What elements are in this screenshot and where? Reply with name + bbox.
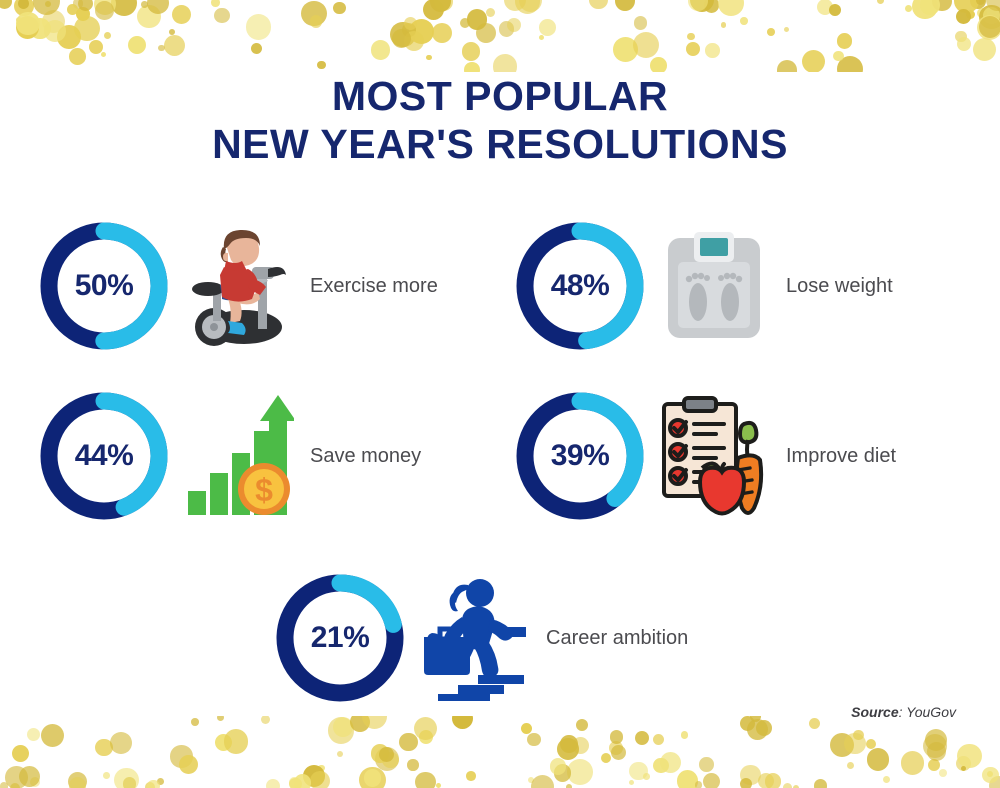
confetti-dot <box>432 23 452 43</box>
confetti-dot <box>5 766 28 788</box>
confetti-dot <box>10 783 20 788</box>
confetti-dot <box>550 758 567 775</box>
confetti-dot <box>767 28 775 36</box>
confetti-dot <box>866 739 877 750</box>
confetti-dot <box>653 758 669 774</box>
confetti-dot <box>157 778 164 785</box>
confetti-dot <box>251 43 262 54</box>
confetti-dot <box>923 734 948 759</box>
confetti-dot <box>41 724 64 747</box>
confetti-dot <box>170 745 192 767</box>
confetti-dot <box>629 762 648 781</box>
confetti-dot <box>404 31 425 52</box>
source-attribution: Source: YouGov <box>851 704 956 720</box>
confetti-dot <box>966 10 975 19</box>
confetti-dot <box>721 22 726 27</box>
confetti-dot <box>677 770 699 788</box>
confetti-dot <box>0 782 8 788</box>
confetti-dot <box>318 765 325 772</box>
confetti-dot <box>392 29 411 48</box>
source-prefix: Source <box>851 704 898 720</box>
confetti-dot <box>976 0 985 5</box>
confetti-dot <box>371 744 389 762</box>
confetti-dot <box>690 0 715 12</box>
confetti-dot <box>464 62 480 72</box>
confetti-dot <box>364 769 382 787</box>
confetti-dot <box>699 757 713 771</box>
confetti-dot <box>817 0 833 15</box>
growth-chart-coin-icon: $ <box>178 391 298 521</box>
confetti-dot <box>224 729 249 754</box>
confetti-dot <box>45 1 51 7</box>
donut-chart-exercise-more: 50% <box>36 218 172 354</box>
confetti-dot <box>434 0 452 11</box>
title-line-1: MOST POPULAR <box>0 72 1000 120</box>
confetti-dot <box>833 51 843 61</box>
gold-confetti-dots-top <box>0 0 1000 72</box>
confetti-dot <box>973 38 996 61</box>
svg-text:$: $ <box>255 472 273 508</box>
confetti-dot <box>688 0 708 11</box>
confetti-dot <box>169 29 175 35</box>
confetti-dot <box>687 33 695 41</box>
stat-item-improve-diet: 39% <box>512 388 896 524</box>
confetti-dot <box>704 0 720 13</box>
confetti-dot <box>957 744 982 769</box>
confetti-dot <box>560 735 578 753</box>
confetti-dot <box>718 0 744 16</box>
confetti-dot <box>33 0 60 15</box>
page-title: MOST POPULAR NEW YEAR'S RESOLUTIONS <box>0 72 1000 169</box>
stat-item-exercise-more: 50% Exercise more <box>36 218 438 354</box>
confetti-dot <box>609 741 623 755</box>
confetti-dot <box>912 0 937 19</box>
confetti-dot <box>414 717 437 740</box>
title-line-2: NEW YEAR'S RESOLUTIONS <box>0 120 1000 168</box>
confetti-dot <box>956 9 971 24</box>
confetti-dot <box>954 0 979 13</box>
donut-value-career-ambition: 21% <box>272 570 408 706</box>
confetti-dot <box>830 733 854 757</box>
stat-item-career-ambition: 21% Career ambition <box>272 570 688 706</box>
confetti-dot <box>404 17 417 30</box>
confetti-dot <box>337 751 343 757</box>
confetti-dot <box>57 25 81 49</box>
confetti-dot <box>19 766 40 787</box>
confetti-dot <box>14 0 34 16</box>
confetti-dot <box>982 767 998 783</box>
confetti-dot <box>809 718 820 729</box>
confetti-dot <box>415 772 435 788</box>
confetti-dot <box>94 0 116 15</box>
confetti-dot <box>554 764 572 782</box>
confetti-dot <box>758 773 774 788</box>
confetti-dot <box>27 728 40 741</box>
confetti-dot <box>310 15 322 27</box>
confetti-dot <box>423 0 444 20</box>
confetti-dot <box>179 755 198 774</box>
stat-label-lose-weight: Lose weight <box>786 275 893 298</box>
confetti-dot <box>539 19 556 36</box>
confetti-dot <box>407 759 419 771</box>
confetti-dot <box>310 771 330 788</box>
confetti-dot <box>101 52 106 57</box>
confetti-dot <box>69 48 86 65</box>
confetti-dot <box>747 719 768 740</box>
donut-chart-improve-diet: 39% <box>512 388 648 524</box>
confetti-dot <box>289 777 300 788</box>
stat-label-career-ambition: Career ambition <box>546 627 688 650</box>
confetti-dot <box>499 21 514 36</box>
confetti-dot <box>987 771 993 777</box>
stat-item-save-money: 44% $ Save money <box>36 388 421 524</box>
confetti-dot <box>172 5 191 24</box>
businesswoman-stairs-icon <box>414 573 534 703</box>
confetti-dot <box>137 5 161 29</box>
confetti-dot <box>932 0 952 11</box>
confetti-dot <box>601 753 611 763</box>
confetti-dot <box>103 772 110 779</box>
confetti-dot <box>145 782 155 788</box>
confetti-dot <box>214 8 229 23</box>
bathroom-scale-icon <box>654 221 774 351</box>
donut-value-exercise-more: 50% <box>36 218 172 354</box>
donut-chart-career-ambition: 21% <box>272 570 408 706</box>
confetti-dot <box>73 0 83 9</box>
confetti-dot <box>30 777 40 787</box>
confetti-dot <box>905 5 912 12</box>
confetti-dot <box>16 16 39 39</box>
donut-chart-save-money: 44% <box>36 388 172 524</box>
confetti-dot <box>399 733 418 752</box>
confetti-dot <box>147 0 169 14</box>
confetti-dot <box>986 0 1000 11</box>
confetti-dot <box>783 783 792 788</box>
donut-chart-lose-weight: 48% <box>512 218 648 354</box>
confetti-dot <box>128 36 146 54</box>
confetti-dot <box>567 759 593 785</box>
confetti-dot <box>750 716 761 722</box>
confetti-dot <box>289 778 302 788</box>
confetti-dot <box>402 23 416 37</box>
confetti-dot <box>375 747 399 771</box>
confetti-dot <box>507 18 522 33</box>
confetti-dot <box>681 731 688 738</box>
confetti-dot <box>95 739 112 756</box>
confetti-dot <box>78 0 93 11</box>
confetti-dot <box>519 0 542 12</box>
confetti-dot <box>686 42 700 56</box>
diet-clipboard-icon <box>654 391 774 521</box>
donut-value-save-money: 44% <box>36 388 172 524</box>
confetti-dot <box>802 50 825 72</box>
confetti-dot <box>515 0 541 14</box>
confetti-dot <box>466 771 476 781</box>
confetti-dot <box>695 781 702 788</box>
confetti-dot <box>379 747 394 762</box>
confetti-dot <box>634 16 648 30</box>
confetti-dot <box>111 0 137 16</box>
confetti-dot <box>925 729 947 751</box>
confetti-dot <box>615 0 635 11</box>
confetti-dot <box>16 17 22 23</box>
confetti-dot <box>653 734 664 745</box>
confetti-dot <box>765 773 782 788</box>
confetti-dot <box>844 733 865 754</box>
confetti-dot <box>635 731 649 745</box>
confetti-dot <box>504 0 526 11</box>
confetti-dot <box>164 35 185 56</box>
confetti-dot <box>979 5 1000 29</box>
confetti-dot <box>877 0 885 4</box>
confetti-dot <box>390 22 416 48</box>
confetti-dot <box>531 775 554 788</box>
confetti-dot <box>76 7 90 21</box>
confetti-dot <box>784 27 790 33</box>
confetti-dot <box>301 1 327 27</box>
confetti-dot <box>610 730 623 743</box>
confetti-dot <box>589 0 607 9</box>
source-name: YouGov <box>906 704 956 720</box>
confetti-dot <box>901 751 925 775</box>
confetti-dot <box>572 737 589 754</box>
confetti-dot <box>123 777 137 788</box>
donut-value-improve-diet: 39% <box>512 388 648 524</box>
confetti-dot <box>961 766 966 771</box>
confetti-dot <box>460 18 470 28</box>
confetti-dot <box>829 4 841 16</box>
confetti-dot <box>12 745 29 762</box>
confetti-dot <box>294 774 311 788</box>
gold-confetti-dots-bottom <box>0 716 1000 788</box>
confetti-dot <box>957 37 971 51</box>
confetti-dot <box>740 17 748 25</box>
confetti-dot <box>476 23 496 43</box>
confetti-dot <box>977 8 987 18</box>
confetti-dot <box>837 56 863 72</box>
confetti-dot <box>462 42 481 61</box>
confetti-dot <box>521 723 532 734</box>
confetti-dot <box>419 730 433 744</box>
donut-value-lose-weight: 48% <box>512 218 648 354</box>
exercise-bike-icon <box>178 221 298 351</box>
confetti-dot <box>527 733 541 747</box>
confetti-dot <box>426 55 431 60</box>
confetti-dot <box>557 738 579 760</box>
confetti-dot <box>777 60 798 72</box>
confetti-dot <box>633 32 659 58</box>
confetti-dot <box>539 35 544 40</box>
confetti-dot <box>979 16 1000 38</box>
confetti-dot <box>837 33 853 49</box>
confetti-dot <box>18 0 29 9</box>
confetti-dot <box>0 0 12 9</box>
confetti-dot <box>814 779 827 788</box>
confetti-dot <box>629 780 634 785</box>
confetti-dot <box>566 784 572 788</box>
confetti-dot <box>67 4 78 15</box>
confetti-dot <box>44 20 66 42</box>
confetti-dot <box>576 719 588 731</box>
confetti-dot <box>756 720 772 736</box>
stat-label-save-money: Save money <box>310 445 421 468</box>
confetti-dot <box>867 748 889 770</box>
confetti-dot <box>362 716 388 729</box>
confetti-dot <box>114 768 139 788</box>
confetti-dot <box>847 762 854 769</box>
confetti-dot <box>261 716 270 724</box>
confetti-dot <box>989 776 1000 788</box>
confetti-dot <box>650 57 667 72</box>
confetti-dot <box>853 730 863 740</box>
confetti-dot <box>16 12 40 36</box>
confetti-dot <box>467 9 487 29</box>
confetti-dot <box>486 8 495 17</box>
confetti-dot <box>928 759 940 771</box>
confetti-dot <box>266 779 280 788</box>
confetti-dot <box>95 1 113 19</box>
confetti-dot <box>493 54 517 72</box>
confetti-dot <box>68 772 87 788</box>
confetti-dot <box>452 716 473 729</box>
confetti-dot <box>409 19 434 44</box>
confetti-dot <box>359 767 385 788</box>
confetti-dot <box>158 45 164 51</box>
confetti-dot <box>436 783 441 788</box>
confetti-dot <box>42 10 65 33</box>
confetti-dot <box>104 32 111 39</box>
confetti-dot <box>317 61 326 70</box>
confetti-dot <box>29 18 51 40</box>
confetti-dot <box>333 2 345 14</box>
confetti-dot <box>740 765 761 786</box>
confetti-dot <box>883 776 890 783</box>
confetti-dot <box>705 43 719 57</box>
stat-item-lose-weight: 48% Lose weight <box>512 218 893 354</box>
confetti-dot <box>217 716 224 721</box>
confetti-dot <box>215 734 232 751</box>
confetti-dot <box>983 7 1000 24</box>
stat-label-exercise-more: Exercise more <box>310 275 438 298</box>
confetti-dot <box>611 745 626 760</box>
confetti-dot <box>956 756 971 771</box>
confetti-dot <box>110 732 132 754</box>
confetti-dot <box>350 716 370 732</box>
confetti-dot <box>970 0 986 9</box>
confetti-dot <box>147 780 159 788</box>
confetti-dot <box>920 0 939 15</box>
confetti-dot <box>211 0 220 7</box>
confetti-dot <box>333 717 353 737</box>
confetti-dot <box>328 717 355 744</box>
confetti-dot <box>246 14 271 39</box>
confetti-dot <box>528 777 534 783</box>
confetti-dot <box>703 773 721 788</box>
confetti-dot <box>793 785 799 788</box>
confetti-dot <box>430 0 452 12</box>
confetti-dot <box>382 752 398 768</box>
confetti-dot <box>927 742 946 761</box>
confetti-dot <box>89 40 103 54</box>
confetti-dot <box>977 15 1000 40</box>
confetti-dot <box>303 765 325 787</box>
confetti-dot <box>191 718 199 726</box>
confetti-dot <box>22 29 30 37</box>
confetti-dot <box>955 31 966 42</box>
confetti-dot <box>660 752 681 773</box>
confetti-dot <box>613 37 638 62</box>
confetti-dot <box>74 16 100 42</box>
confetti-dot <box>740 778 752 788</box>
confetti-dot <box>69 777 86 788</box>
confetti-dot <box>939 769 947 777</box>
confetti-dot <box>740 716 755 731</box>
stat-label-improve-diet: Improve diet <box>786 445 896 468</box>
confetti-dot <box>141 1 147 7</box>
confetti-dot <box>371 40 390 59</box>
confetti-dot <box>643 773 650 780</box>
